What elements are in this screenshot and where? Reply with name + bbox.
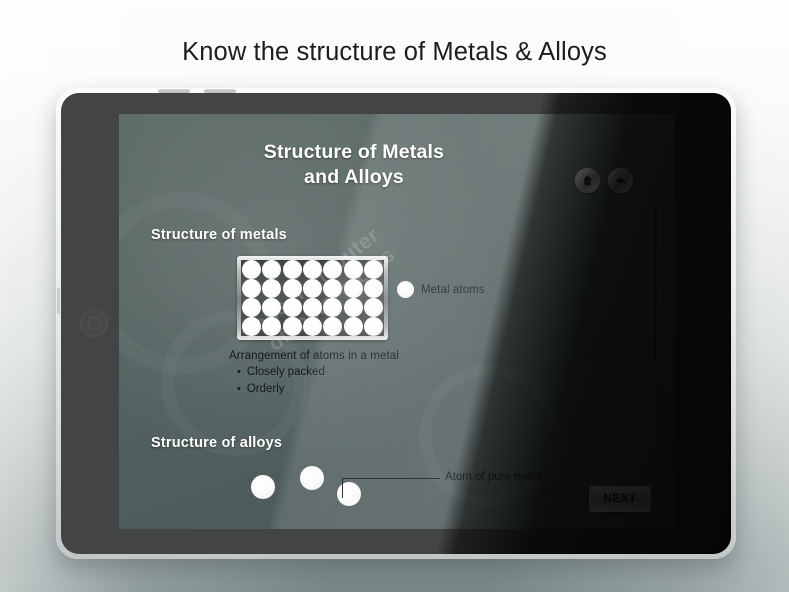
- section-heading-metals: Structure of metals: [151, 227, 287, 243]
- section-heading-alloys: Structure of alloys: [151, 435, 282, 451]
- callout-leader-line: [342, 478, 440, 498]
- side-switch-button[interactable]: [57, 288, 60, 314]
- legend-swatch-icon: [397, 281, 414, 298]
- screen-title: Structure of Metals and Alloys: [119, 140, 589, 190]
- metals-caption-block: Arrangement of atoms in a metal • Closel…: [229, 348, 399, 398]
- back-button-icon-wrapper[interactable]: [608, 168, 633, 193]
- metal-atom: [242, 298, 261, 317]
- metal-atom: [262, 279, 281, 298]
- home-button-icon-wrapper[interactable]: [575, 168, 600, 193]
- next-button[interactable]: NEXT: [589, 486, 651, 512]
- alloy-atoms-row: Atom of pure metal: [237, 454, 577, 514]
- metal-atom: [344, 298, 363, 317]
- tablet-screen: tions from outer of metal atoms Structur…: [119, 114, 675, 529]
- bullet-marker: •: [237, 364, 241, 381]
- home-icon: [581, 174, 594, 187]
- page-title: Know the structure of Metals & Alloys: [0, 38, 789, 67]
- screen-title-line-1: Structure of Metals: [119, 140, 589, 165]
- callout-label-pure-metal: Atom of pure metal: [445, 471, 542, 483]
- metal-atom: [344, 260, 363, 279]
- alloy-atom: [300, 466, 324, 490]
- scrollbar-thumb[interactable]: [654, 208, 657, 358]
- legend-metal-atoms: Metal atoms: [397, 281, 485, 298]
- metal-atom-grid-panel: [237, 256, 388, 340]
- metal-atom: [283, 298, 302, 317]
- alloy-atom: [251, 475, 275, 499]
- metal-atom: [364, 298, 383, 317]
- metal-atom: [262, 260, 281, 279]
- metal-atom: [262, 317, 281, 336]
- metal-atom: [303, 298, 322, 317]
- home-button[interactable]: [80, 309, 108, 337]
- metal-atom: [303, 279, 322, 298]
- bullet-item: • Orderly: [237, 381, 399, 398]
- metal-atom: [283, 317, 302, 336]
- bullet-item: • Closely packed: [237, 364, 399, 381]
- metal-atom: [242, 279, 261, 298]
- back-arrow-icon: [614, 174, 628, 187]
- bullet-marker: •: [237, 381, 241, 398]
- bullet-text: Closely packed: [247, 364, 325, 381]
- metal-atom: [262, 298, 281, 317]
- metal-atom: [344, 279, 363, 298]
- metal-atom: [303, 260, 322, 279]
- callout-leader-line-horizontal: [342, 478, 440, 479]
- tablet-device: tions from outer of metal atoms Structur…: [56, 88, 736, 559]
- bullet-text: Orderly: [247, 381, 285, 398]
- next-button-label: NEXT: [603, 493, 636, 505]
- metal-atom: [364, 317, 383, 336]
- metal-atom: [283, 279, 302, 298]
- metal-atom: [303, 317, 322, 336]
- metal-atom: [283, 260, 302, 279]
- metal-atom: [364, 260, 383, 279]
- metal-atom: [323, 298, 342, 317]
- nav-buttons: [575, 168, 633, 193]
- volume-down-button[interactable]: [204, 89, 236, 93]
- metal-atom: [364, 279, 383, 298]
- vertical-scrollbar[interactable]: [654, 208, 657, 426]
- metal-atom: [242, 317, 261, 336]
- volume-up-button[interactable]: [158, 89, 190, 93]
- metal-atom: [323, 317, 342, 336]
- metal-atom: [344, 317, 363, 336]
- metal-atom: [323, 260, 342, 279]
- screen-title-line-2: and Alloys: [119, 165, 589, 190]
- metal-atom: [242, 260, 261, 279]
- metals-caption-title: Arrangement of atoms in a metal: [229, 348, 399, 364]
- legend-label: Metal atoms: [421, 284, 485, 296]
- metal-atom: [323, 279, 342, 298]
- metal-atom-grid: [241, 260, 384, 336]
